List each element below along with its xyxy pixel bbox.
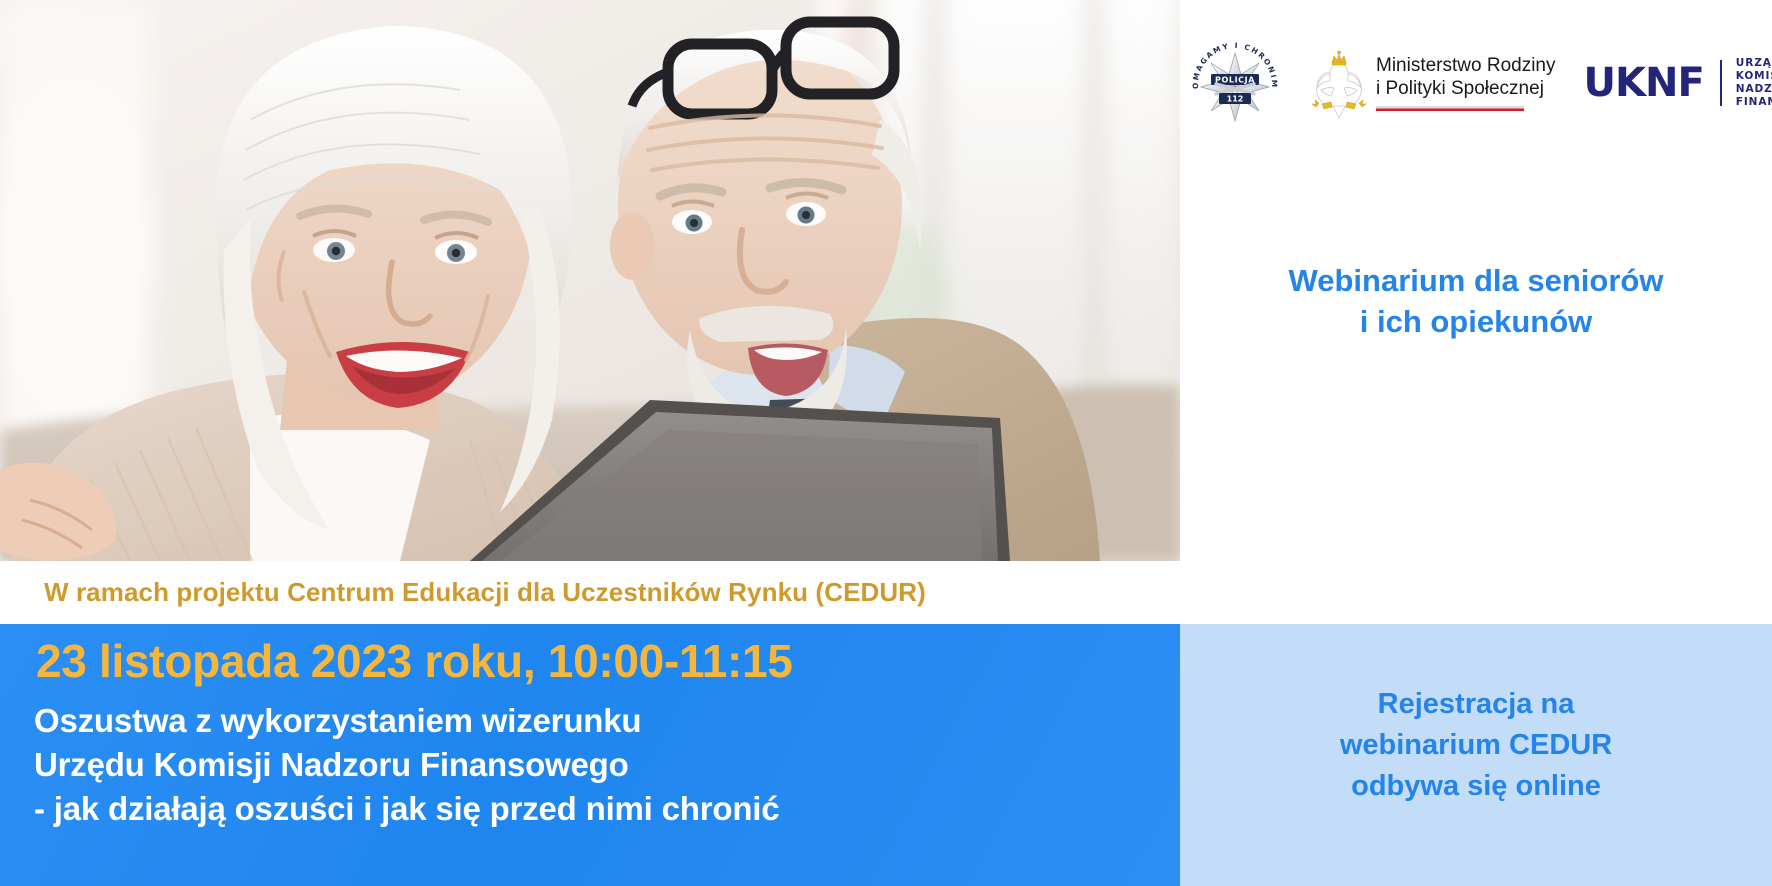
webinar-title-line-1: Webinarium dla seniorów (1180, 260, 1772, 301)
police-logo: POMAGAMY I CHRONIMY (1185, 33, 1285, 133)
hero-photo (0, 0, 1180, 561)
poster-root: W ramach projektu Centrum Edukacji dla U… (0, 0, 1772, 886)
polish-eagle-icon (1311, 46, 1367, 120)
svg-text:POLICJA: POLICJA (1215, 75, 1255, 84)
event-topic-line-2: Urzędu Komisji Nadzoru Finansowego (34, 743, 779, 787)
uknf-subtitle-2: KOMISJI (1736, 70, 1772, 83)
webinar-title-line-2: i ich opiekunów (1180, 301, 1772, 342)
event-topic-line-3: - jak działają oszuści i jak się przed n… (34, 787, 779, 831)
registration-line-3: odbywa się online (1180, 766, 1772, 807)
uknf-subtitle-3: NADZORU (1736, 83, 1772, 96)
event-date-time: 23 listopada 2023 roku, 10:00-11:15 (36, 634, 793, 688)
uknf-subtitle-1: URZĄD (1736, 57, 1772, 70)
ministry-text-block: Ministerstwo Rodziny i Polityki Społeczn… (1376, 54, 1556, 111)
polish-flag-bar-icon (1376, 106, 1524, 111)
uknf-logo: UKNF URZĄD KOMISJI NADZORU FINANSOWEGO (1584, 57, 1772, 109)
event-topic-line-1: Oszustwa z wykorzystaniem wizerunku (34, 699, 779, 743)
cedur-project-strip: W ramach projektu Centrum Edukacji dla U… (0, 561, 1180, 624)
uknf-wordmark: UKNF (1584, 63, 1704, 103)
uknf-subtitle-4: FINANSOWEGO (1736, 96, 1772, 109)
registration-line-2: webinarium CEDUR (1180, 725, 1772, 766)
event-topic: Oszustwa z wykorzystaniem wizerunku Urzę… (34, 699, 779, 831)
ministry-logo: Ministerstwo Rodziny i Polityki Społeczn… (1311, 46, 1556, 120)
uknf-divider (1720, 60, 1722, 106)
police-badge-icon: POMAGAMY I CHRONIMY (1185, 33, 1285, 133)
registration-panel: Rejestracja na webinarium CEDUR odbywa s… (1180, 624, 1772, 886)
uknf-subtitle-block: URZĄD KOMISJI NADZORU FINANSOWEGO (1736, 57, 1772, 109)
svg-text:112: 112 (1227, 94, 1244, 103)
hero-photo-illustration (0, 0, 1180, 561)
event-details-panel: 23 listopada 2023 roku, 10:00-11:15 Oszu… (0, 624, 1180, 886)
right-white-panel: POMAGAMY I CHRONIMY (1180, 0, 1772, 624)
webinar-title: Webinarium dla seniorów i ich opiekunów (1180, 260, 1772, 342)
registration-line-1: Rejestracja na (1180, 684, 1772, 725)
ministry-line-2: i Polityki Społecznej (1376, 77, 1556, 100)
cedur-project-text: W ramach projektu Centrum Edukacji dla U… (44, 577, 926, 608)
logo-row: POMAGAMY I CHRONIMY (1180, 30, 1772, 135)
ministry-line-1: Ministerstwo Rodziny (1376, 54, 1556, 77)
registration-text: Rejestracja na webinarium CEDUR odbywa s… (1180, 684, 1772, 807)
